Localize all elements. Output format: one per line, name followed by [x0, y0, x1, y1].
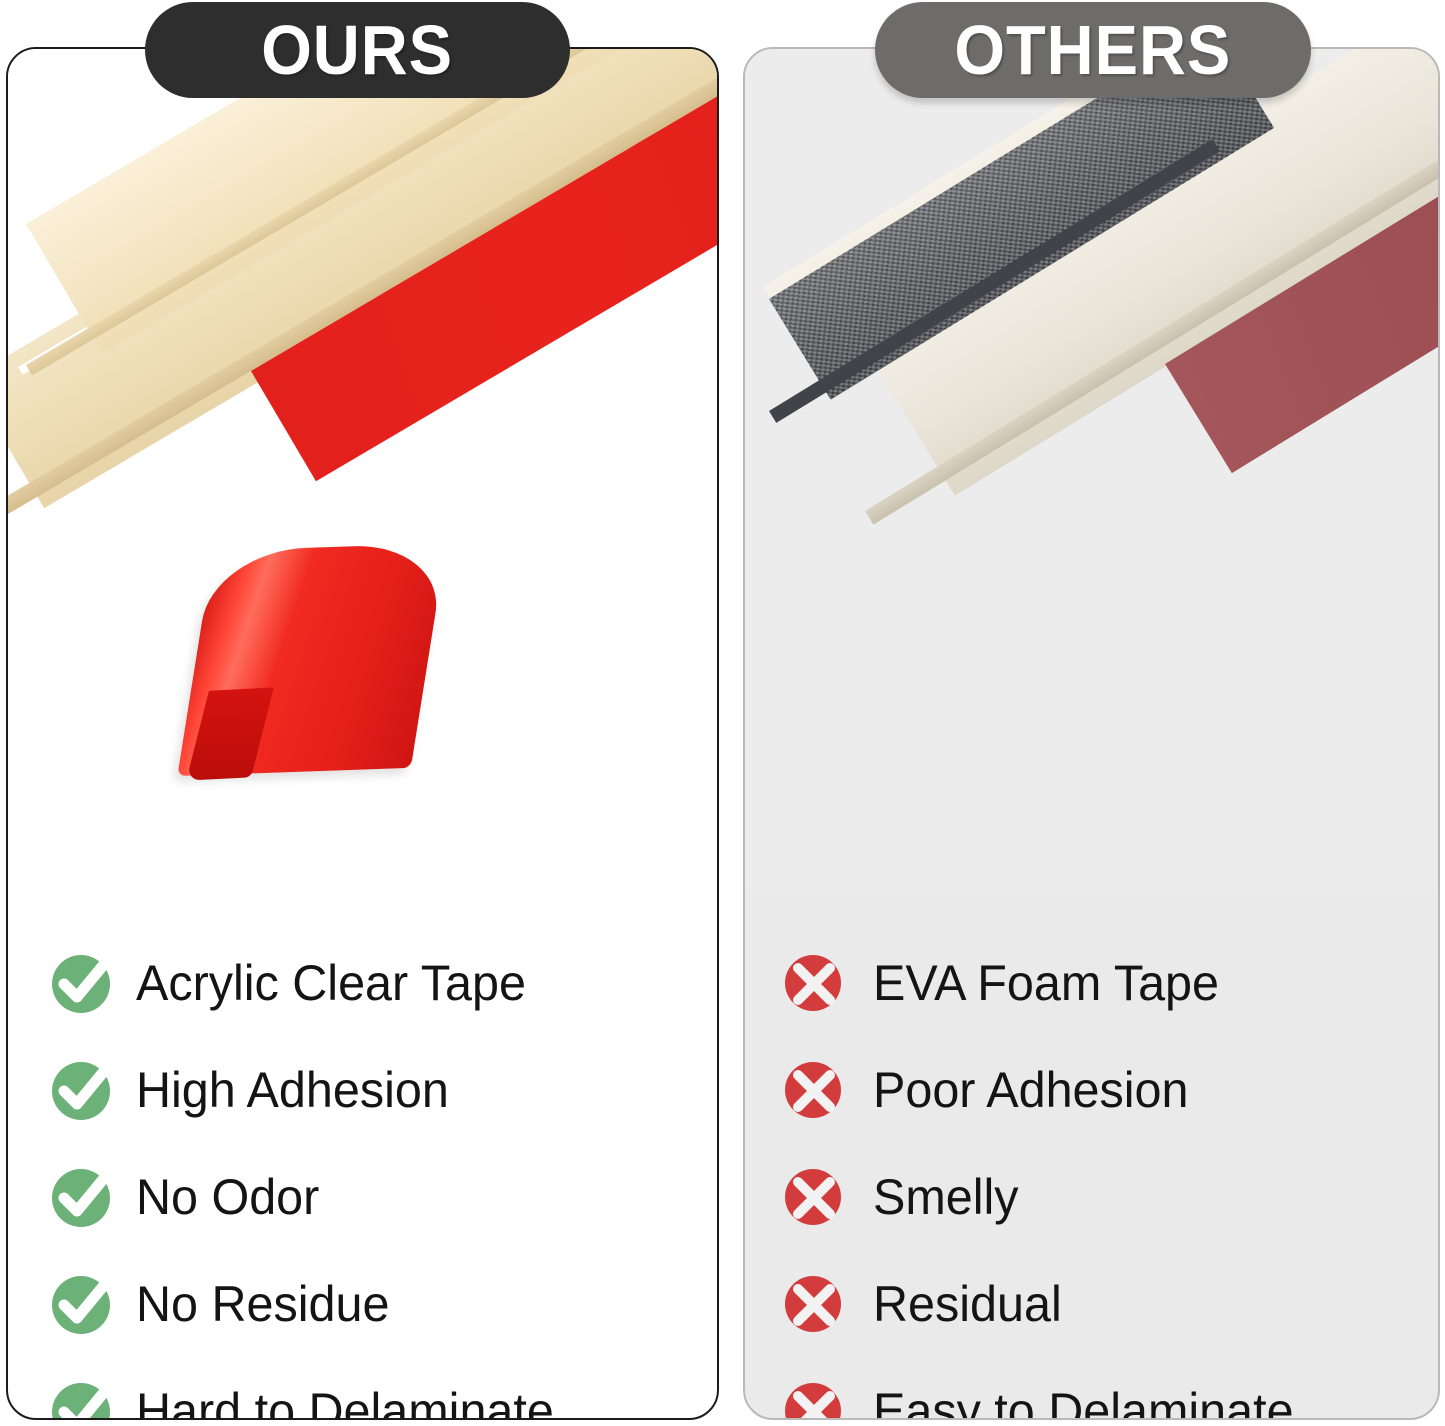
list-item-label: EVA Foam Tape: [873, 958, 1219, 1008]
others-panel: EVA Foam Tape Poor Adhesion: [743, 47, 1440, 1420]
check-circle-icon: [50, 1272, 114, 1336]
list-item: Smelly: [789, 1143, 1438, 1250]
check-circle-icon: [50, 1058, 114, 1122]
ours-badge: OURS: [145, 2, 570, 98]
check-circle-icon: [50, 1379, 114, 1421]
x-circle-icon: [783, 1165, 847, 1229]
check-circle-icon: [50, 1165, 114, 1229]
list-item-label: High Adhesion: [136, 1065, 449, 1115]
list-item: Residual: [789, 1250, 1438, 1357]
list-item: Hard to Delaminate: [50, 1357, 717, 1420]
list-item-label: Poor Adhesion: [873, 1065, 1188, 1115]
list-item-label: No Residue: [136, 1279, 389, 1329]
ours-product-photo: [8, 49, 717, 894]
list-item: Easy to Delaminate: [789, 1357, 1438, 1420]
x-circle-icon: [783, 951, 847, 1015]
list-item-label: Smelly: [873, 1172, 1019, 1222]
x-circle-icon: [783, 1058, 847, 1122]
list-item-label: Residual: [873, 1279, 1062, 1329]
x-circle-icon: [783, 1379, 847, 1421]
comparison-infographic: Acrylic Clear Tape High Adhesion: [0, 0, 1445, 1426]
list-item-label: Easy to Delaminate: [873, 1386, 1294, 1421]
ours-feature-list: Acrylic Clear Tape High Adhesion: [8, 929, 717, 1420]
list-item-label: Acrylic Clear Tape: [136, 958, 526, 1008]
ours-badge-label: OURS: [262, 15, 454, 85]
list-item: No Residue: [50, 1250, 717, 1357]
list-item: EVA Foam Tape: [789, 929, 1438, 1036]
others-badge-label: OTHERS: [955, 15, 1232, 85]
check-circle-icon: [50, 951, 114, 1015]
others-product-photo: [745, 49, 1438, 894]
others-feature-list: EVA Foam Tape Poor Adhesion: [745, 929, 1438, 1420]
list-item: No Odor: [50, 1143, 717, 1250]
list-item-label: Hard to Delaminate: [136, 1386, 554, 1421]
x-circle-icon: [783, 1272, 847, 1336]
others-badge: OTHERS: [875, 2, 1311, 98]
list-item: Acrylic Clear Tape: [50, 929, 717, 1036]
list-item-label: No Odor: [136, 1172, 319, 1222]
list-item: Poor Adhesion: [789, 1036, 1438, 1143]
ours-panel: Acrylic Clear Tape High Adhesion: [6, 47, 719, 1420]
list-item: High Adhesion: [50, 1036, 717, 1143]
